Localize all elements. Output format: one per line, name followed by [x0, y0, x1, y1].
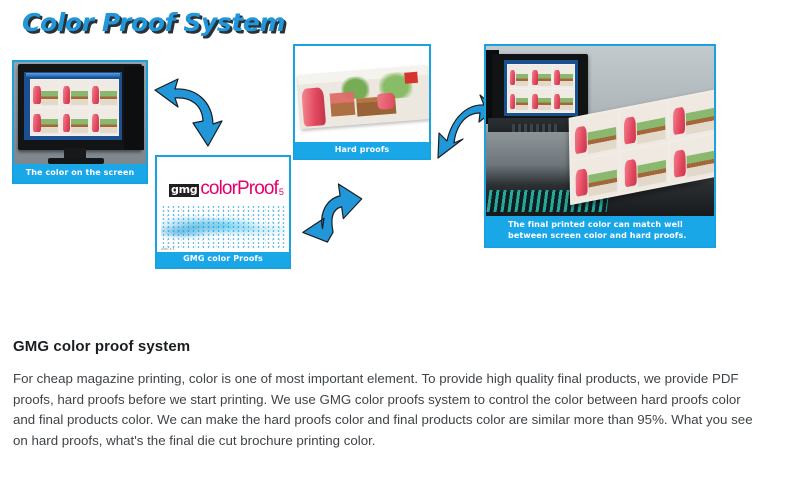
- hard-proof-sheet-image: [295, 46, 429, 144]
- arrow-gmg-to-hard-icon: [297, 170, 369, 246]
- pink-pot: [377, 92, 395, 109]
- proof-page-grid: [507, 64, 575, 113]
- wooden-chair: [330, 91, 355, 117]
- article-text-block: GMG color proof system For cheap magazin…: [13, 338, 775, 451]
- proof-page-cell: [31, 108, 59, 135]
- monitor-scene-image: [14, 62, 146, 164]
- proof-page-cell: [508, 65, 529, 88]
- window-titlebar: [26, 73, 120, 77]
- monitor-screen: [24, 72, 122, 140]
- gmg-ink-splash: [161, 205, 285, 249]
- gmg-logo-mark: gmg: [169, 184, 199, 197]
- gmg-logo-version: 5: [279, 187, 284, 197]
- card-caption-gmg: GMG color Proofs: [157, 252, 289, 267]
- gmg-splash-image: gmg colorProof 5 GMG 5.4: [157, 157, 289, 253]
- printed-page-cell: [620, 101, 668, 151]
- proof-page-cell: [553, 65, 574, 88]
- printing-press-image: [486, 46, 714, 218]
- card-final-print: The final printed color can match well b…: [484, 44, 716, 248]
- printed-page-cell: [620, 143, 668, 193]
- proof-page-cell: [31, 80, 59, 107]
- card-screen-color: The color on the screen: [12, 60, 148, 184]
- press-photo: [486, 46, 714, 218]
- monitor-hood: [124, 66, 144, 150]
- press-monitor: [492, 54, 588, 124]
- body-paragraph: For cheap magazine printing, color is on…: [13, 369, 765, 451]
- red-accent-object: [404, 72, 418, 84]
- printed-page-cell: [669, 91, 714, 141]
- proof-page-cell: [90, 80, 118, 107]
- proof-page-cell: [530, 65, 551, 88]
- printed-scene: [297, 65, 429, 129]
- proof-page-cell: [553, 89, 574, 112]
- hard-proof-sheet: [297, 65, 429, 129]
- proof-page-cell: [60, 80, 88, 107]
- press-monitor-screen: [504, 60, 578, 116]
- card-caption-screen: The color on the screen: [14, 164, 146, 182]
- printed-page-cell: [571, 110, 619, 160]
- hard-proofs-photo: [295, 46, 429, 144]
- section-heading: GMG color proof system: [13, 338, 775, 355]
- proof-page-cell: [90, 108, 118, 135]
- proof-page-cell: [60, 108, 88, 135]
- proof-page-grid: [30, 79, 119, 136]
- arrow-screen-to-gmg-icon: [152, 76, 228, 150]
- proof-page-cell: [508, 89, 529, 112]
- gmg-logo-word: colorProof: [200, 179, 278, 198]
- card-caption-press: The final printed color can match well b…: [486, 216, 714, 246]
- card-caption-hard: Hard proofs: [295, 142, 429, 158]
- card-gmg-colorproof: gmg colorProof 5 GMG 5.4 GMG color Proof…: [155, 155, 291, 269]
- card-hard-proofs: Hard proofs: [293, 44, 431, 160]
- printed-page-cell: [571, 153, 619, 203]
- screen-photo: [14, 62, 146, 164]
- color-proof-workflow-diagram: The color on the screen gmg colorProof 5…: [0, 0, 792, 320]
- printed-page-cell: [670, 134, 714, 184]
- gmg-fineprint: GMG 5.4: [161, 247, 175, 251]
- proof-page-cell: [530, 89, 551, 112]
- pink-vase: [301, 87, 326, 126]
- gmg-logo: gmg colorProof 5: [169, 179, 284, 198]
- gmg-photo: gmg colorProof 5 GMG 5.4: [157, 157, 289, 253]
